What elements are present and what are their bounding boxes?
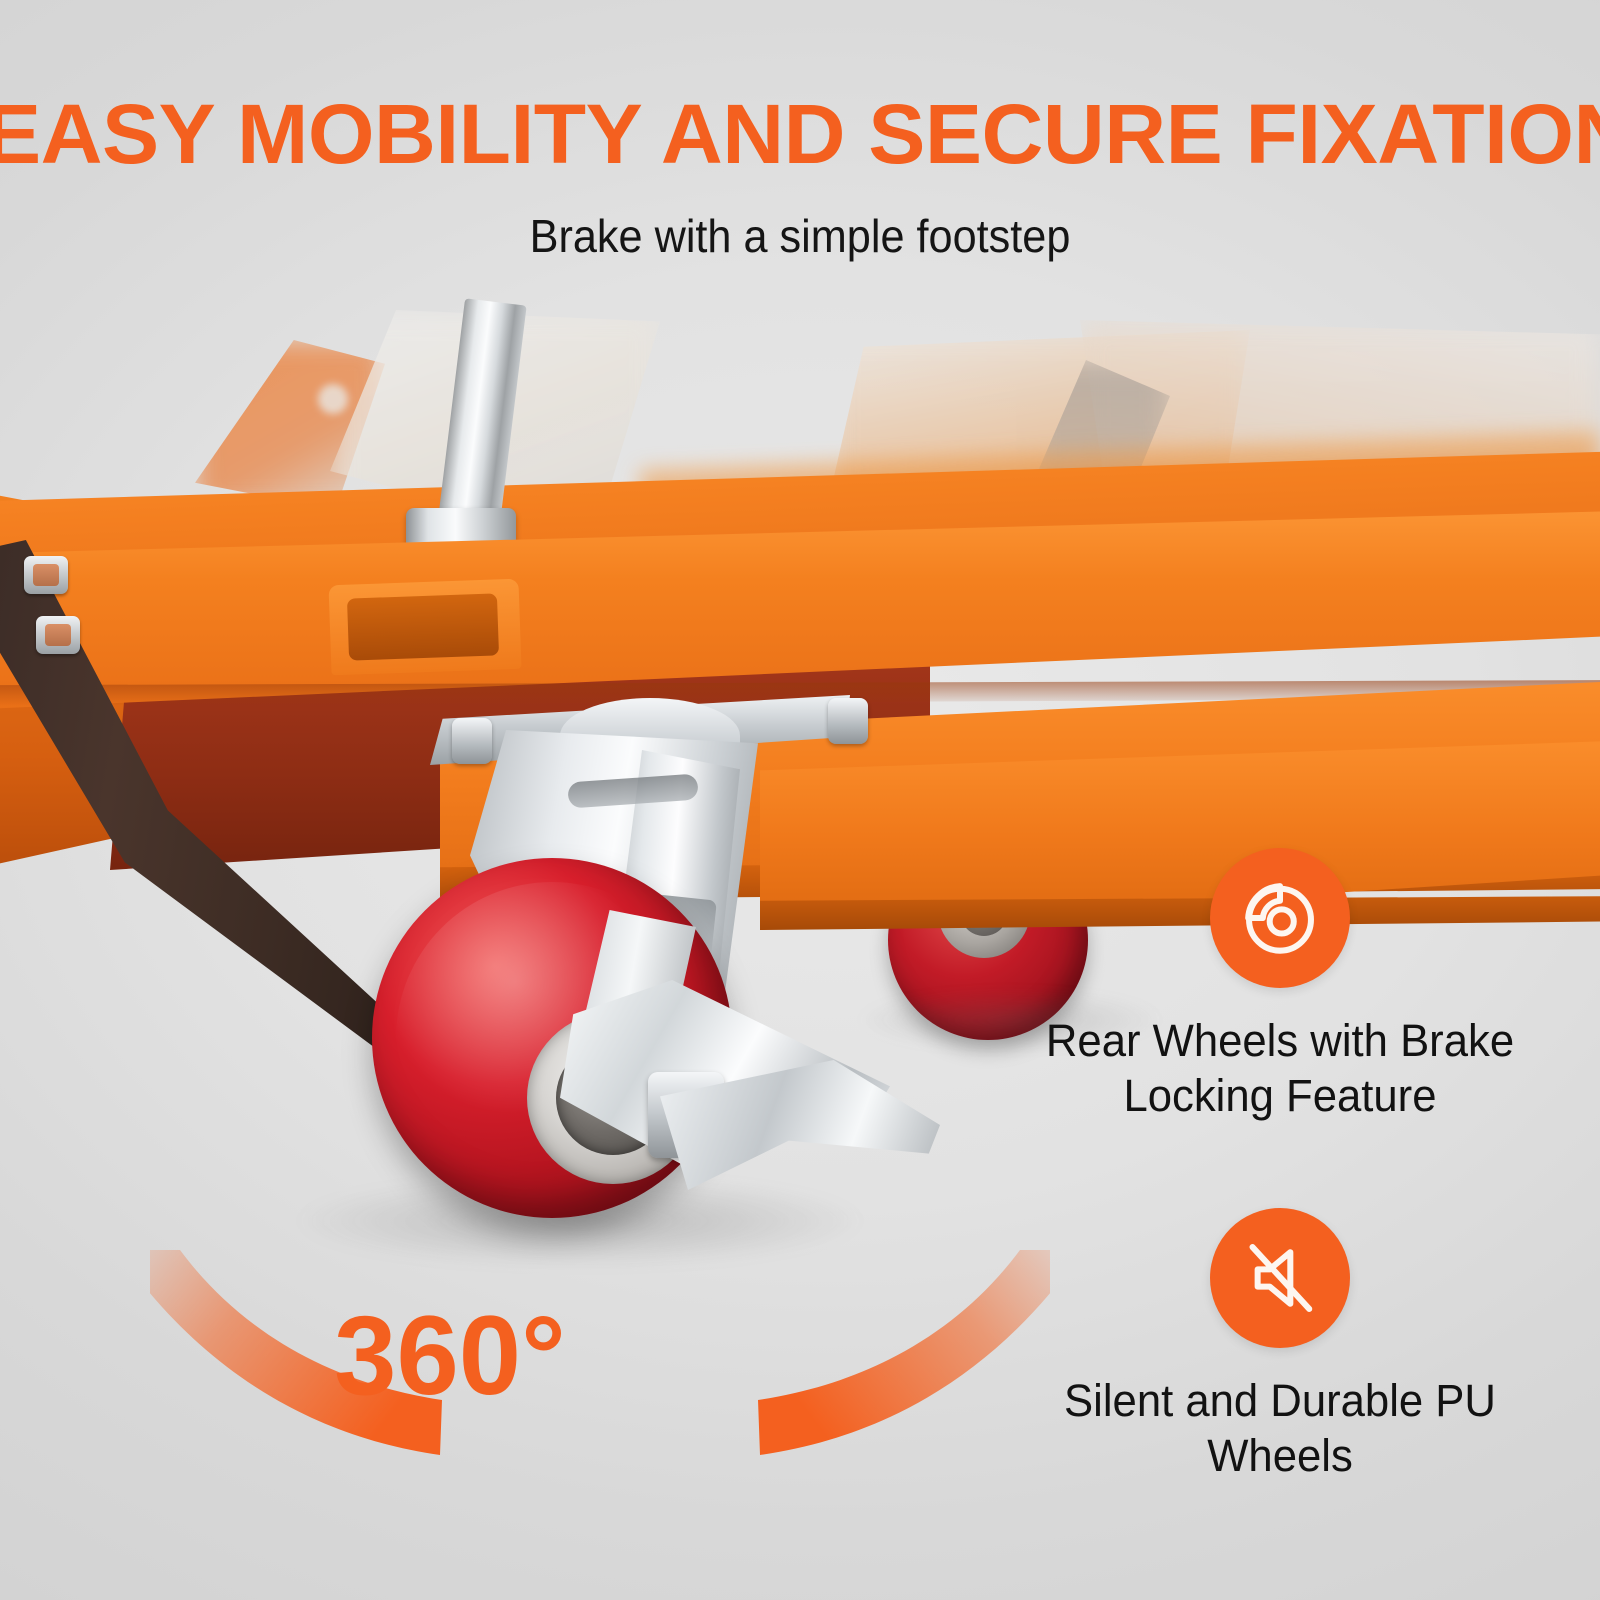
rotation-arc-right-icon [630,1250,1050,1480]
product-feature-banner: EASY MOBILITY AND SECURE FIXATION Brake … [0,0,1600,1600]
pedal-mount-bolt [36,616,80,654]
brake-disc-icon [1210,848,1350,988]
rotation-badge [150,1250,1050,1510]
page-subtitle: Brake with a simple footstep [48,213,1552,259]
caster-plate-bolt [452,718,492,764]
feature-label-silent: Silent and Durable PU Wheels [1008,1374,1551,1484]
pedal-mount-bolt [24,556,68,594]
product-photo [0,300,1600,1300]
feature-item-brake: Rear Wheels with Brake Locking Feature [1000,848,1560,1124]
feature-label-brake: Rear Wheels with Brake Locking Feature [1008,1014,1551,1124]
caster-plate-bolt [828,698,868,744]
feature-item-silent: Silent and Durable PU Wheels [1000,1208,1560,1484]
mute-speaker-icon [1210,1208,1350,1348]
rotation-degree-label: 360° [300,1300,600,1412]
page-title: EASY MOBILITY AND SECURE FIXATION [0,92,1600,176]
blurred-bolt [318,384,348,414]
